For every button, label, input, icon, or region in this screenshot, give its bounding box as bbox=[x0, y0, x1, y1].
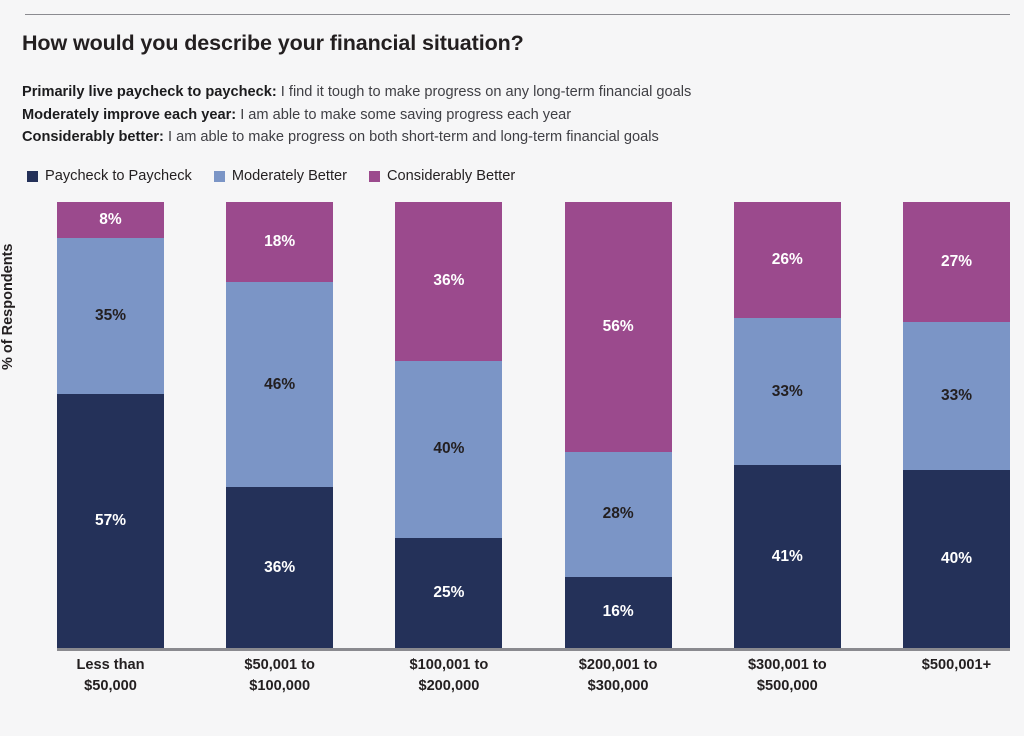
bar-segment-label: 16% bbox=[603, 603, 634, 621]
x-axis-label-line: $500,001+ bbox=[882, 655, 1024, 676]
x-axis-label-line: $300,001 to bbox=[712, 655, 862, 676]
bar-segment-label: 8% bbox=[99, 211, 121, 229]
bar-segment[interactable]: 28% bbox=[565, 452, 672, 577]
definition-description: I am able to make progress on both short… bbox=[168, 129, 659, 145]
legend-label: Moderately Better bbox=[232, 168, 347, 184]
bar-segment-label: 26% bbox=[772, 251, 803, 269]
x-axis-label: $50,001 to$100,000 bbox=[205, 655, 355, 697]
bar-group[interactable]: 27%33%40% bbox=[903, 202, 1010, 648]
bar-segment[interactable]: 27% bbox=[903, 202, 1010, 322]
x-axis-label: $300,001 to$500,000 bbox=[712, 655, 862, 697]
definition-item: Considerably better: I am able to make p… bbox=[22, 127, 982, 149]
legend-item[interactable]: Moderately Better bbox=[214, 168, 347, 184]
definition-list: Primarily live paycheck to paycheck: I f… bbox=[22, 82, 982, 150]
legend-item[interactable]: Paycheck to Paycheck bbox=[27, 168, 192, 184]
bar-segment[interactable]: 33% bbox=[734, 318, 841, 465]
definition-description: I am able to make some saving progress e… bbox=[240, 107, 571, 123]
definition-term: Considerably better: bbox=[22, 129, 164, 145]
bar-group[interactable]: 18%46%36% bbox=[226, 202, 333, 648]
bar-segment-label: 46% bbox=[264, 376, 295, 394]
bar-segment-label: 33% bbox=[941, 387, 972, 405]
bar-segment-label: 27% bbox=[941, 253, 972, 271]
definition-description: I find it tough to make progress on any … bbox=[281, 84, 691, 100]
x-axis-label-line: $200,000 bbox=[374, 676, 524, 697]
x-axis-label-line: $300,000 bbox=[543, 676, 693, 697]
legend-swatch-icon bbox=[27, 171, 38, 182]
bar-segment[interactable]: 18% bbox=[226, 202, 333, 282]
x-axis-label-line: $50,001 to bbox=[205, 655, 355, 676]
bar-segment[interactable]: 40% bbox=[395, 361, 502, 538]
chart-legend: Paycheck to PaycheckModerately BetterCon… bbox=[27, 168, 515, 184]
x-axis-label: Less than$50,000 bbox=[36, 655, 186, 697]
x-axis-label: $200,001 to$300,000 bbox=[543, 655, 693, 697]
chart-page: How would you describe your financial si… bbox=[0, 0, 1024, 736]
bar-segment-label: 18% bbox=[264, 233, 295, 251]
x-axis-label-line: $100,000 bbox=[205, 676, 355, 697]
definition-item: Moderately improve each year: I am able … bbox=[22, 105, 982, 127]
y-axis-title: % of Respondents bbox=[0, 190, 16, 370]
top-divider bbox=[25, 14, 1010, 15]
bar-segment[interactable]: 36% bbox=[226, 487, 333, 648]
bar-segment[interactable]: 57% bbox=[57, 394, 164, 648]
bar-segment-label: 56% bbox=[603, 318, 634, 336]
bar-segment[interactable]: 25% bbox=[395, 538, 502, 648]
bar-segment-label: 36% bbox=[264, 559, 295, 577]
bar-group[interactable]: 56%28%16% bbox=[565, 202, 672, 648]
legend-swatch-icon bbox=[214, 171, 225, 182]
legend-swatch-icon bbox=[369, 171, 380, 182]
bar-segment[interactable]: 26% bbox=[734, 202, 841, 318]
bar-segment-label: 41% bbox=[772, 548, 803, 566]
bar-segment-label: 40% bbox=[433, 440, 464, 458]
bar-segment[interactable]: 36% bbox=[395, 202, 502, 361]
x-axis-label-line: $100,001 to bbox=[374, 655, 524, 676]
x-axis-label-line: Less than bbox=[36, 655, 186, 676]
bar-segment-label: 28% bbox=[603, 505, 634, 523]
x-axis-label: $500,001+ bbox=[882, 655, 1024, 676]
page-title: How would you describe your financial si… bbox=[22, 31, 524, 56]
bar-group[interactable]: 36%40%25% bbox=[395, 202, 502, 648]
bar-segment-label: 35% bbox=[95, 307, 126, 325]
bar-segment[interactable]: 16% bbox=[565, 577, 672, 648]
definition-item: Primarily live paycheck to paycheck: I f… bbox=[22, 82, 982, 104]
bar-segment[interactable]: 8% bbox=[57, 202, 164, 238]
legend-item[interactable]: Considerably Better bbox=[369, 168, 515, 184]
bar-group[interactable]: 26%33%41% bbox=[734, 202, 841, 648]
x-axis-label: $100,001 to$200,000 bbox=[374, 655, 524, 697]
legend-label: Paycheck to Paycheck bbox=[45, 168, 192, 184]
plot-area: 8%35%57%18%46%36%36%40%25%56%28%16%26%33… bbox=[57, 202, 1010, 648]
definition-term: Primarily live paycheck to paycheck: bbox=[22, 84, 277, 100]
bar-segment[interactable]: 33% bbox=[903, 322, 1010, 469]
bar-segment-label: 57% bbox=[95, 512, 126, 530]
bar-series-container: 8%35%57%18%46%36%36%40%25%56%28%16%26%33… bbox=[57, 202, 1010, 648]
x-axis-label-line: $500,000 bbox=[712, 676, 862, 697]
x-axis-label-line: $50,000 bbox=[36, 676, 186, 697]
x-axis-line bbox=[57, 648, 1010, 651]
bar-segment[interactable]: 40% bbox=[903, 470, 1010, 648]
legend-label: Considerably Better bbox=[387, 168, 515, 184]
x-axis-labels: Less than$50,000$50,001 to$100,000$100,0… bbox=[57, 655, 1010, 715]
bar-segment[interactable]: 56% bbox=[565, 202, 672, 452]
bar-segment-label: 40% bbox=[941, 550, 972, 568]
bar-segment[interactable]: 46% bbox=[226, 282, 333, 487]
x-axis-label-line: $200,001 to bbox=[543, 655, 693, 676]
bar-segment[interactable]: 41% bbox=[734, 465, 841, 648]
bar-segment-label: 36% bbox=[433, 272, 464, 290]
bar-group[interactable]: 8%35%57% bbox=[57, 202, 164, 648]
bar-segment-label: 25% bbox=[433, 584, 464, 602]
bar-segment[interactable]: 35% bbox=[57, 238, 164, 394]
definition-term: Moderately improve each year: bbox=[22, 107, 236, 123]
bar-segment-label: 33% bbox=[772, 383, 803, 401]
